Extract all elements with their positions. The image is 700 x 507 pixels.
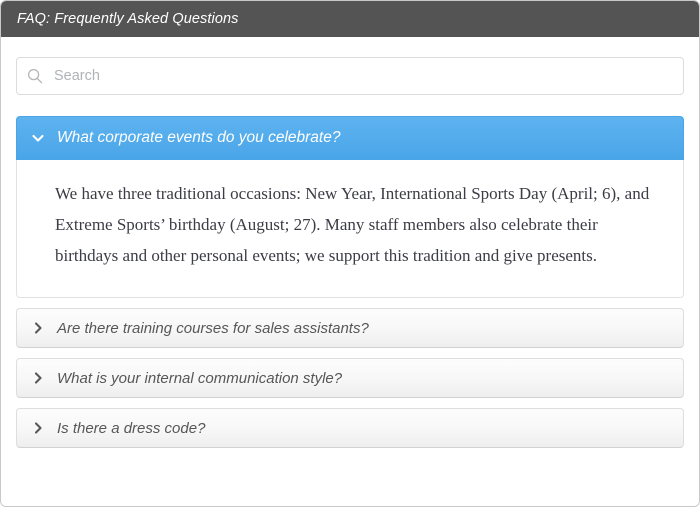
faq-window: FAQ: Frequently Asked Questions	[0, 0, 700, 507]
faq-answer-text: We have three traditional occasions: New…	[55, 178, 653, 271]
faq-question-header-3[interactable]: Is there a dress code?	[16, 408, 684, 448]
search-field-wrapper	[16, 57, 684, 95]
faq-item: What corporate events do you celebrate? …	[16, 116, 684, 298]
faq-question-header-0[interactable]: What corporate events do you celebrate?	[16, 116, 684, 160]
faq-answer-panel-0: We have three traditional occasions: New…	[16, 160, 684, 298]
faq-question-header-2[interactable]: What is your internal communication styl…	[16, 358, 684, 398]
chevron-right-icon	[31, 321, 45, 335]
chevron-down-icon	[31, 131, 45, 145]
window-title: FAQ: Frequently Asked Questions	[17, 11, 239, 27]
chevron-right-icon	[31, 421, 45, 435]
faq-accordion: What corporate events do you celebrate? …	[16, 116, 684, 448]
window-titlebar: FAQ: Frequently Asked Questions	[1, 1, 699, 37]
faq-question-header-1[interactable]: Are there training courses for sales ass…	[16, 308, 684, 348]
chevron-right-icon	[31, 371, 45, 385]
search-input[interactable]	[52, 57, 674, 95]
faq-question-label: Are there training courses for sales ass…	[57, 320, 369, 337]
faq-item: Is there a dress code?	[16, 408, 684, 448]
faq-item: What is your internal communication styl…	[16, 358, 684, 398]
faq-question-label: What corporate events do you celebrate?	[57, 129, 340, 147]
faq-content: What corporate events do you celebrate? …	[1, 37, 699, 507]
faq-question-label: What is your internal communication styl…	[57, 370, 342, 387]
faq-question-label: Is there a dress code?	[57, 420, 205, 437]
faq-item: Are there training courses for sales ass…	[16, 308, 684, 348]
